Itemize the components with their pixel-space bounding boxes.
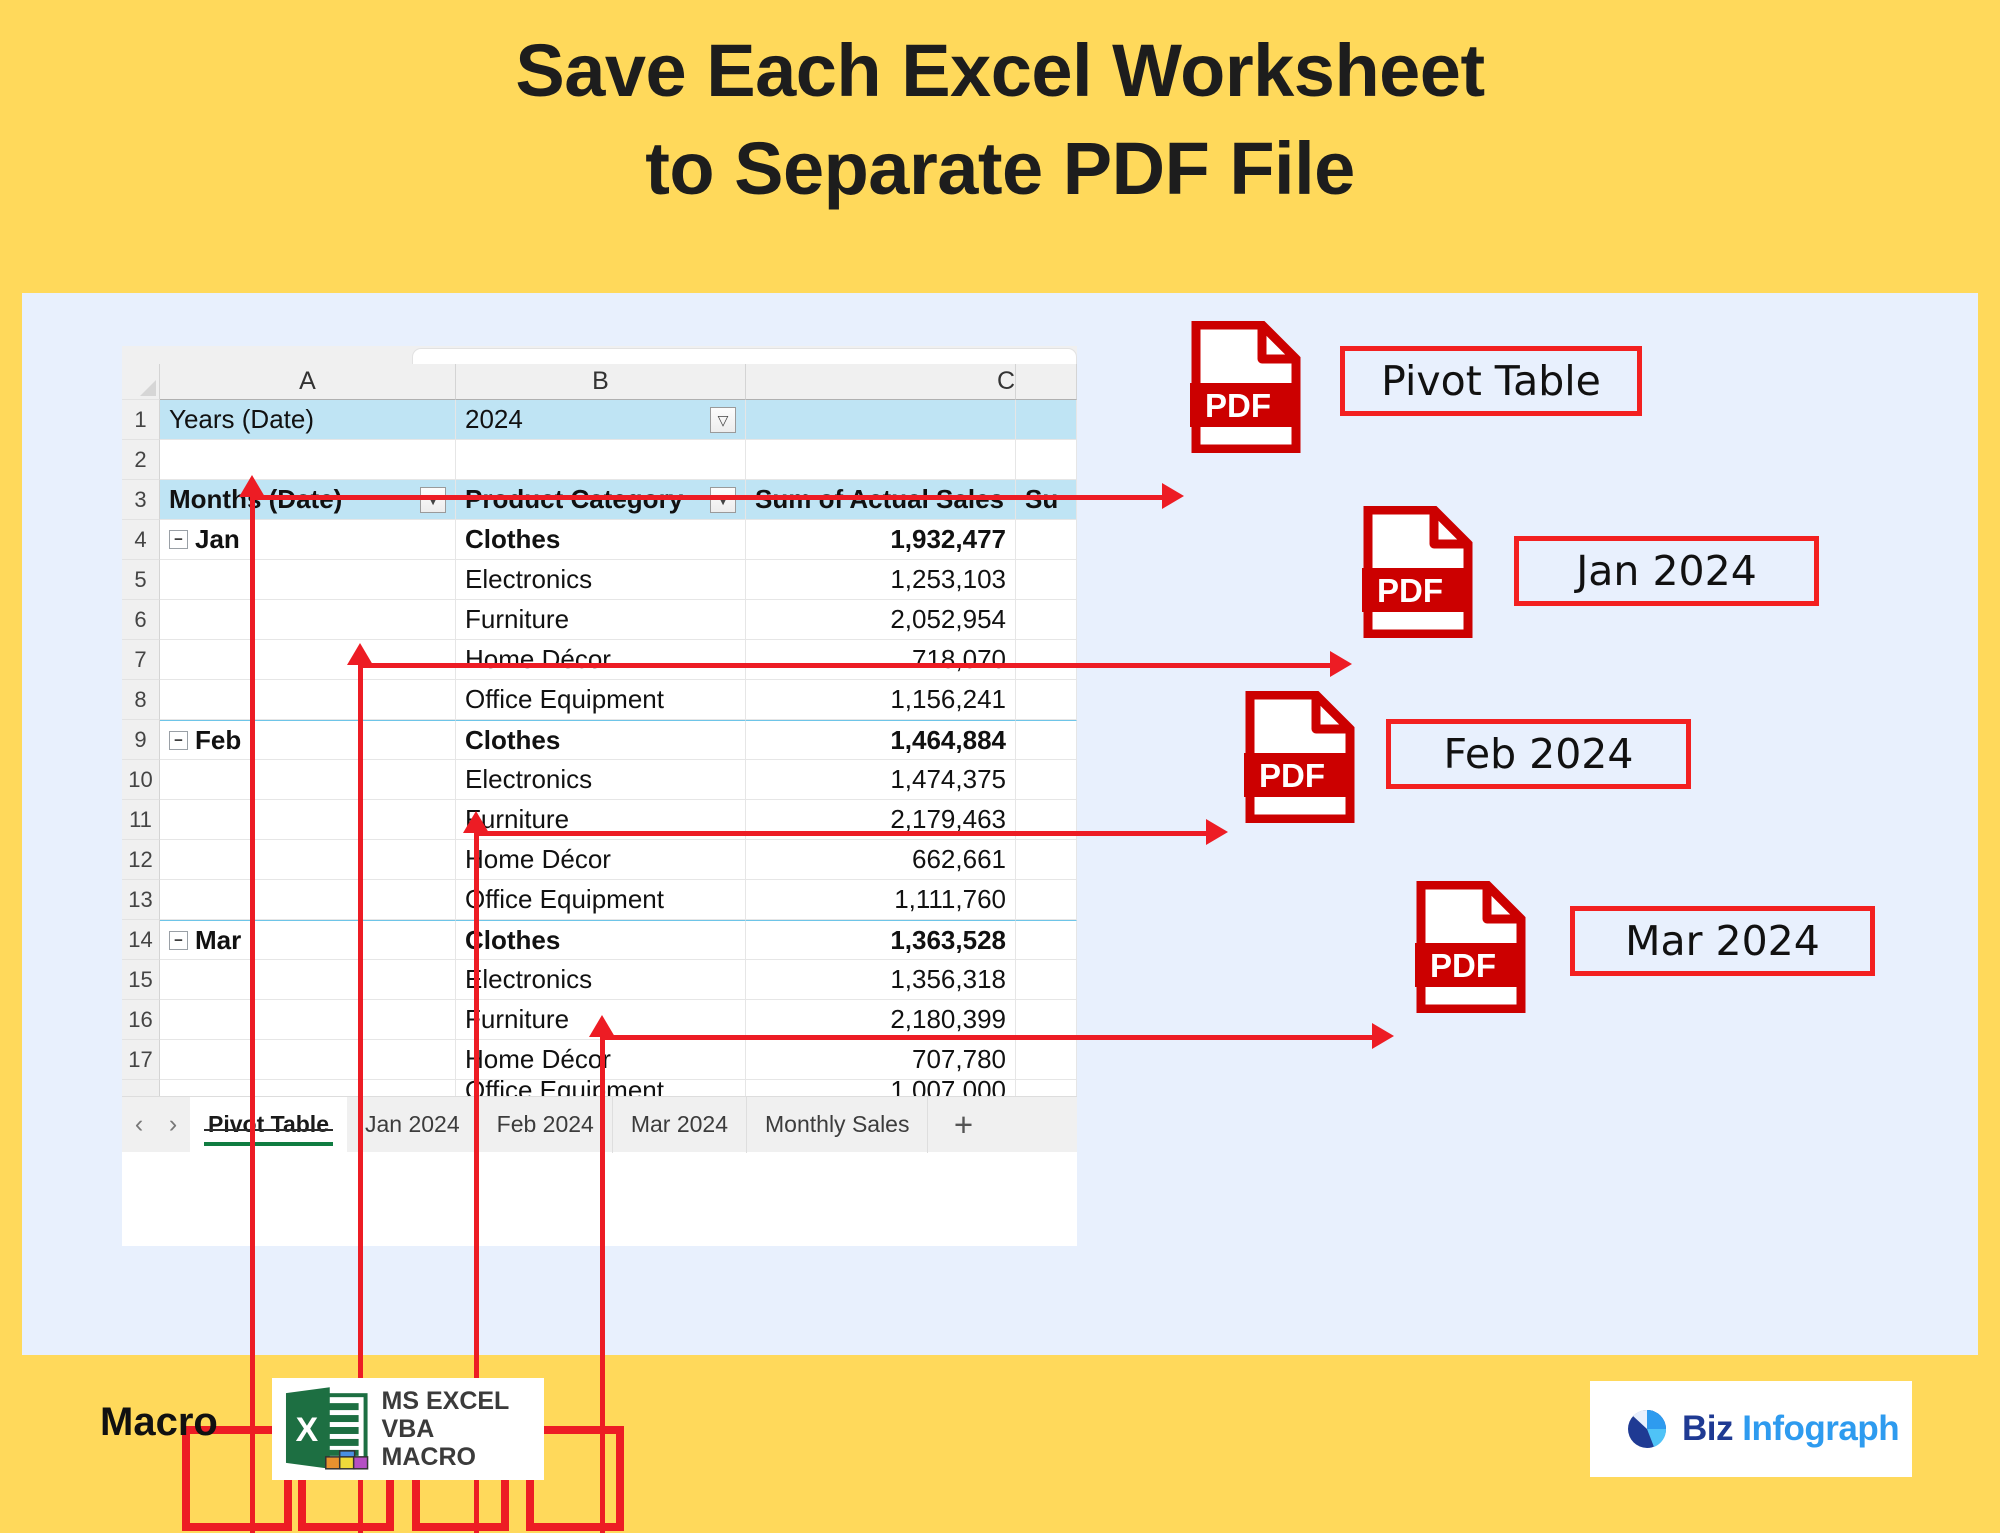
cell-col-b[interactable]: Home Décor: [456, 840, 746, 880]
row-header[interactable]: 6: [122, 600, 160, 640]
svg-text:X: X: [296, 1411, 319, 1449]
spreadsheet-row[interactable]: 13Office Equipment1,111,760: [122, 880, 1077, 920]
excel-logo-line2: VBA MACRO: [382, 1415, 534, 1471]
cell-col-d[interactable]: [1016, 600, 1077, 640]
sheet-tab-label: Feb 2024: [497, 1111, 594, 1138]
cell-col-b[interactable]: 2024▽: [456, 400, 746, 440]
row-header[interactable]: 16: [122, 1000, 160, 1040]
pdf-output-mar-2024: PDF Mar 2024: [1415, 881, 1527, 1013]
page-title-line2: to Separate PDF File: [0, 120, 2000, 218]
pdf-label-jan-2024: Jan 2024: [1514, 536, 1819, 606]
cell-col-a[interactable]: −Mar: [160, 920, 456, 960]
row-header[interactable]: 3: [122, 480, 160, 520]
spreadsheet-row[interactable]: 12Home Décor662,661: [122, 840, 1077, 880]
row-header[interactable]: 12: [122, 840, 160, 880]
row-header[interactable]: 15: [122, 960, 160, 1000]
tabbar-filler: [998, 1097, 1077, 1153]
biz-infograph-logo: Biz Infograph: [1590, 1381, 1912, 1477]
sheet-tab-label: Mar 2024: [631, 1111, 728, 1138]
cell-col-d[interactable]: Su: [1016, 480, 1077, 520]
sheet-tab-jan-2024[interactable]: Jan 2024: [347, 1097, 479, 1153]
annotation-line-pivot-horizontal: [250, 495, 1170, 500]
row-header[interactable]: 11: [122, 800, 160, 840]
spreadsheet-row[interactable]: 6Furniture2,052,954: [122, 600, 1077, 640]
brand-part2: Infograph: [1742, 1409, 1899, 1448]
cell-col-c[interactable]: [746, 440, 1016, 480]
cell-col-b[interactable]: Product Category▼: [456, 480, 746, 520]
column-header-b[interactable]: B: [456, 364, 746, 400]
spreadsheet-row[interactable]: 4−JanClothes1,932,477: [122, 520, 1077, 560]
cell-col-c[interactable]: 1,932,477: [746, 520, 1016, 560]
excel-logo-line1: MS EXCEL: [382, 1387, 534, 1415]
cell-col-a[interactable]: [160, 640, 456, 680]
cell-col-d[interactable]: [1016, 720, 1077, 760]
pdf-output-feb-2024: PDF Feb 2024: [1244, 691, 1356, 823]
cell-col-c[interactable]: 2,052,954: [746, 600, 1016, 640]
pdf-icon-svg: PDF: [1362, 506, 1474, 638]
cell-col-a[interactable]: [160, 840, 456, 880]
corner-triangle-icon: [140, 380, 156, 396]
cell-col-b[interactable]: Electronics: [456, 960, 746, 1000]
cell-text: Office Equipment: [465, 684, 664, 715]
row-header[interactable]: 10: [122, 760, 160, 800]
cell-text: Home Décor: [465, 644, 611, 675]
content-panel: A B C 1Years (Date)2024▽23Months (Date)▼…: [22, 293, 1978, 1355]
cell-col-b[interactable]: Electronics: [456, 760, 746, 800]
excel-logo-text: MS EXCEL VBA MACRO: [382, 1387, 534, 1471]
svg-text:PDF: PDF: [1430, 947, 1496, 984]
spreadsheet-row[interactable]: 14−MarClothes1,363,528: [122, 920, 1077, 960]
page-title-line1: Save Each Excel Worksheet: [0, 22, 2000, 120]
cell-col-c[interactable]: 662,661: [746, 840, 1016, 880]
pdf-icon-svg: PDF: [1244, 691, 1356, 823]
chevron-left-icon[interactable]: ‹: [122, 1110, 156, 1139]
spreadsheet-row[interactable]: 2: [122, 440, 1077, 480]
cell-col-d[interactable]: [1016, 680, 1077, 720]
cell-col-c[interactable]: Sum of Actual Sales: [746, 480, 1016, 520]
minus-box-icon[interactable]: −: [169, 931, 188, 950]
cell-col-c[interactable]: 1,253,103: [746, 560, 1016, 600]
annotation-arrowhead-jan-right: [1330, 651, 1352, 677]
cell-col-b[interactable]: Electronics: [456, 560, 746, 600]
cell-col-c[interactable]: 1,464,884: [746, 720, 1016, 760]
spreadsheet-row[interactable]: 8Office Equipment1,156,241: [122, 680, 1077, 720]
pdf-label-pivot-table: Pivot Table: [1340, 346, 1642, 416]
annotation-arrowhead-mar-up: [589, 1015, 615, 1037]
row-header[interactable]: 7: [122, 640, 160, 680]
cell-text: Years (Date): [169, 404, 314, 435]
spreadsheet-row[interactable]: 3Months (Date)▼Product Category▼Sum of A…: [122, 480, 1077, 520]
cell-col-a[interactable]: [160, 560, 456, 600]
biz-infograph-text: Biz Infograph: [1682, 1409, 1899, 1449]
spreadsheet-row[interactable]: 5Electronics1,253,103: [122, 560, 1077, 600]
annotation-arrowhead-jan-up: [347, 643, 373, 665]
cell-col-d[interactable]: [1016, 960, 1077, 1000]
cell-col-a[interactable]: [160, 960, 456, 1000]
spreadsheet-row[interactable]: 15Electronics1,356,318: [122, 960, 1077, 1000]
cell-col-d[interactable]: [1016, 920, 1077, 960]
cell-text: Electronics: [465, 764, 592, 795]
cell-col-d[interactable]: [1016, 520, 1077, 560]
cell-text: Electronics: [465, 964, 592, 995]
spreadsheet-row[interactable]: 10Electronics1,474,375: [122, 760, 1077, 800]
cell-text: Home Décor: [465, 844, 611, 875]
minus-box-icon[interactable]: −: [169, 530, 188, 549]
row-header[interactable]: 1: [122, 400, 160, 440]
sheet-tab-monthly-sales[interactable]: Monthly Sales: [747, 1097, 928, 1153]
cell-col-a[interactable]: [160, 760, 456, 800]
sheet-tab-label: Pivot Table: [208, 1111, 329, 1138]
annotation-line-pivot-vertical: [250, 495, 255, 1533]
cell-text: Office Equipment: [465, 884, 664, 915]
cell-col-a[interactable]: −Jan: [160, 520, 456, 560]
cell-col-b[interactable]: Clothes: [456, 720, 746, 760]
spreadsheet-row[interactable]: 1Years (Date)2024▽: [122, 400, 1077, 440]
cell-col-d[interactable]: [1016, 760, 1077, 800]
row-header[interactable]: 9: [122, 720, 160, 760]
cell-col-b[interactable]: [456, 440, 746, 480]
row-header[interactable]: 5: [122, 560, 160, 600]
sheet-tab-mar-2024[interactable]: Mar 2024: [613, 1097, 747, 1153]
cell-text: Clothes: [465, 725, 560, 756]
svg-text:PDF: PDF: [1205, 387, 1271, 424]
row-header[interactable]: 4: [122, 520, 160, 560]
cell-col-c[interactable]: [746, 400, 1016, 440]
annotation-arrowhead-pivot-right: [1162, 483, 1184, 509]
column-header-row: A B C: [122, 364, 1077, 400]
cell-col-c[interactable]: 2,180,399: [746, 1000, 1016, 1040]
pdf-output-pivot-table: PDF Pivot Table: [1190, 321, 1302, 453]
sheet-tab-label: Jan 2024: [365, 1111, 460, 1138]
spreadsheet-row[interactable]: 7Home Décor718,070: [122, 640, 1077, 680]
cell-col-d[interactable]: [1016, 400, 1077, 440]
excel-icon: X: [282, 1383, 374, 1475]
pdf-file-icon[interactable]: PDF: [1415, 881, 1527, 1013]
cell-text: Clothes: [465, 925, 560, 956]
pie-chart-icon: [1624, 1406, 1670, 1452]
cell-text: Furniture: [465, 1004, 569, 1035]
cell-text: Home Décor: [465, 1044, 611, 1075]
cell-col-c[interactable]: 718,070: [746, 640, 1016, 680]
cell-text: Feb: [195, 725, 241, 756]
cell-text: 2024: [465, 404, 523, 435]
cell-col-d[interactable]: [1016, 1040, 1077, 1080]
minus-box-icon[interactable]: −: [169, 731, 188, 750]
cell-col-c[interactable]: 1,356,318: [746, 960, 1016, 1000]
cell-col-a[interactable]: [160, 800, 456, 840]
annotation-line-feb-horizontal: [474, 831, 1214, 836]
cell-col-a[interactable]: [160, 1040, 456, 1080]
pdf-label-mar-2024: Mar 2024: [1570, 906, 1875, 976]
macro-label: Macro: [100, 1400, 218, 1445]
row-header[interactable]: 14: [122, 920, 160, 960]
annotation-line-mar-horizontal: [600, 1035, 1380, 1040]
page-title: Save Each Excel Worksheet to Separate PD…: [0, 22, 2000, 217]
pdf-label-feb-2024: Feb 2024: [1386, 719, 1691, 789]
cell-col-c[interactable]: 1,363,528: [746, 920, 1016, 960]
spreadsheet-row[interactable]: 9−FebClothes1,464,884: [122, 720, 1077, 760]
cell-col-a[interactable]: Months (Date)▼: [160, 480, 456, 520]
column-header-c[interactable]: C: [746, 364, 1016, 400]
column-header-a[interactable]: A: [160, 364, 456, 400]
cell-col-b[interactable]: Clothes: [456, 520, 746, 560]
cell-col-d[interactable]: [1016, 440, 1077, 480]
cell-col-a[interactable]: [160, 1000, 456, 1040]
cell-text: Electronics: [465, 564, 592, 595]
excel-vba-macro-logo: X MS EXCEL VBA MACRO: [272, 1378, 544, 1480]
cell-col-b[interactable]: Office Equipment: [456, 680, 746, 720]
formula-bar-strip: [122, 346, 1077, 364]
row-header[interactable]: 13: [122, 880, 160, 920]
cell-text: Jan: [195, 524, 240, 555]
cell-col-b[interactable]: Furniture: [456, 600, 746, 640]
row-header[interactable]: 8: [122, 680, 160, 720]
cell-col-c[interactable]: 1,156,241: [746, 680, 1016, 720]
pdf-icon-svg: PDF: [1415, 881, 1527, 1013]
pdf-file-icon[interactable]: PDF: [1190, 321, 1302, 453]
column-header-d[interactable]: [1016, 364, 1077, 400]
cell-col-a[interactable]: [160, 680, 456, 720]
filter-funnel-icon[interactable]: ▽: [710, 407, 736, 433]
row-header[interactable]: 17: [122, 1040, 160, 1080]
sheet-tab-feb-2024[interactable]: Feb 2024: [479, 1097, 613, 1153]
annotation-arrowhead-pivot-up: [239, 475, 265, 497]
sheet-tab-label: Monthly Sales: [765, 1111, 909, 1138]
annotation-arrowhead-mar-right: [1372, 1023, 1394, 1049]
cell-col-b[interactable]: Office Equipment: [456, 880, 746, 920]
cell-col-d[interactable]: [1016, 880, 1077, 920]
annotation-arrowhead-feb-up: [463, 811, 489, 833]
cell-col-a[interactable]: Years (Date): [160, 400, 456, 440]
cell-col-d[interactable]: [1016, 840, 1077, 880]
cell-col-a[interactable]: [160, 600, 456, 640]
cell-col-d[interactable]: [1016, 1000, 1077, 1040]
svg-text:PDF: PDF: [1259, 757, 1325, 794]
spreadsheet-grid[interactable]: A B C 1Years (Date)2024▽23Months (Date)▼…: [122, 364, 1077, 1102]
pdf-file-icon[interactable]: PDF: [1244, 691, 1356, 823]
cell-text: Furniture: [465, 604, 569, 635]
cell-col-b[interactable]: Home Décor: [456, 640, 746, 680]
row-header[interactable]: 2: [122, 440, 160, 480]
sheet-tab-pivot-table[interactable]: Pivot Table: [190, 1097, 347, 1153]
cell-text: Mar: [195, 925, 241, 956]
annotation-arrowhead-feb-right: [1206, 819, 1228, 845]
cell-col-c[interactable]: 1,474,375: [746, 760, 1016, 800]
cell-col-a[interactable]: −Feb: [160, 720, 456, 760]
chevron-right-icon[interactable]: ›: [156, 1110, 190, 1139]
pdf-icon-svg: PDF: [1190, 321, 1302, 453]
select-all-corner[interactable]: [122, 364, 160, 400]
add-sheet-button[interactable]: +: [928, 1106, 998, 1144]
pdf-file-icon[interactable]: PDF: [1362, 506, 1474, 638]
pdf-output-jan-2024: PDF Jan 2024: [1362, 506, 1474, 638]
cell-text: Clothes: [465, 524, 560, 555]
cell-col-a[interactable]: [160, 440, 456, 480]
cell-col-c[interactable]: 707,780: [746, 1040, 1016, 1080]
cell-col-b[interactable]: Clothes: [456, 920, 746, 960]
cell-col-c[interactable]: 1,111,760: [746, 880, 1016, 920]
cell-col-d[interactable]: [1016, 560, 1077, 600]
cell-col-a[interactable]: [160, 880, 456, 920]
annotation-line-jan-horizontal: [358, 663, 1338, 668]
cell-col-d[interactable]: [1016, 640, 1077, 680]
brand-part1: Biz: [1682, 1409, 1742, 1448]
svg-text:PDF: PDF: [1377, 572, 1443, 609]
